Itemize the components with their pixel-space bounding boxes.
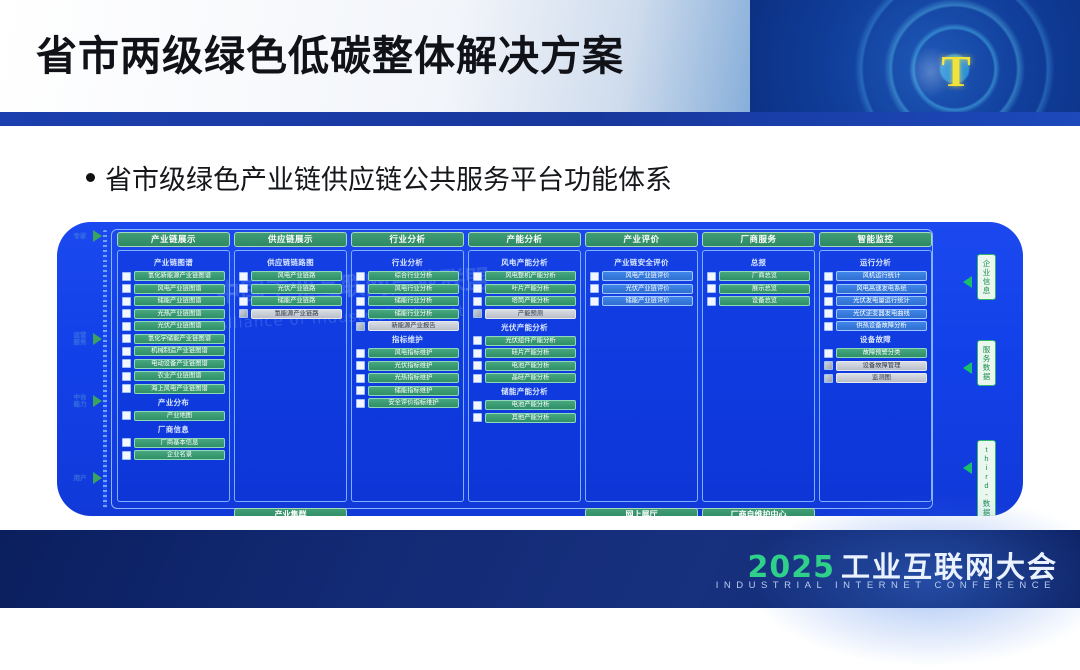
group-title: 光伏产能分析 [473,322,576,333]
checkbox-icon[interactable] [239,284,248,293]
list-item[interactable]: 电动设备产业链图谱 [122,359,225,369]
list-item[interactable]: 产能预测 [473,309,576,319]
list-item[interactable]: 厂商基本信息 [122,438,225,448]
column-2: 供应链展示供应链链路图风电产业链路光伏产业链路储能产业链路氢能源产业链路产业集群… [234,232,347,516]
item-label[interactable]: 氢化学储能产业链图谱 [134,334,225,344]
checkbox-icon[interactable] [590,272,599,281]
item-label[interactable]: 储能产业链图谱 [134,296,225,306]
item-label[interactable]: 储能产业链路 [251,296,342,306]
checkbox-icon[interactable] [473,401,482,410]
item-label[interactable]: 产业地图 [134,411,225,421]
item-label[interactable]: 风电产业链路 [251,271,342,281]
list-item[interactable]: 其他产能分析 [473,413,576,423]
item-label[interactable]: 风电整机产能分析 [485,271,576,281]
left-label-4: 用户 [69,472,102,484]
item-label[interactable]: 光伏指标维护 [368,361,459,371]
bullet-icon [86,173,95,182]
item-label[interactable]: 安全评价指标维护 [368,398,459,408]
list-item[interactable]: 光伏组件产能分析 [473,336,576,346]
group-title: 运行分析 [824,257,927,268]
arrow-left-icon-3 [963,462,972,474]
left-label-text: 中台能力 [69,394,91,408]
item-label[interactable]: 其他产能分析 [485,413,576,423]
list-item[interactable]: 风电产业链评价 [590,271,693,281]
group-title: 总报 [707,257,810,268]
checkbox-icon[interactable] [590,297,599,306]
item-label[interactable]: 光热产业链图谱 [134,309,225,319]
checkbox-icon[interactable] [824,297,833,306]
checkbox-icon[interactable] [473,413,482,422]
checkbox-icon[interactable] [122,438,131,447]
list-item[interactable]: 展示总览 [707,284,810,294]
item-label[interactable]: 风电产业链评价 [602,271,693,281]
list-item[interactable]: 产业地图 [122,411,225,421]
list-item[interactable]: 故障预警分类 [824,348,927,358]
list-item[interactable]: 光伏发电量运行统计 [824,296,927,306]
arrow-left-icon-2 [963,362,972,374]
column-5: 产业评价产业链安全评价风电产业链评价光伏产业链评价储能产业链评价网上展厅网上展厅… [585,232,698,516]
checkbox-icon[interactable] [356,284,365,293]
checkbox-icon[interactable] [824,322,833,331]
header-logo-letter: T [941,50,971,96]
checkbox-icon[interactable] [356,349,365,358]
item-label[interactable]: 供热设备故障分析 [836,321,927,331]
list-item[interactable]: 储能产业链图谱 [122,296,225,306]
list-item[interactable]: 塔筒产能分析 [473,296,576,306]
list-item[interactable]: 设备总览 [707,296,810,306]
column-container: 产业链展示产业链图谱氢化新能源产业链图谱风电产业链图谱储能产业链图谱光热产业链图… [117,232,932,516]
arrow-right-icon [93,230,102,242]
group-title: 风电产能分析 [473,257,576,268]
sub-panel-header[interactable]: 网上展厅 [585,508,698,516]
list-item[interactable]: 风电产业链图谱 [122,284,225,294]
arrow-right-icon [93,395,102,407]
arrow-left-icon-1 [963,276,972,288]
sub-panel-header[interactable]: 产业集群 [234,508,347,516]
item-label[interactable]: 储能行业分析 [368,309,459,319]
list-item[interactable]: 氢能源产业链路 [239,309,342,319]
list-item[interactable]: 安全评价指标维护 [356,398,459,408]
group-title: 行业分析 [356,257,459,268]
item-label[interactable]: 电动设备产业链图谱 [134,359,225,369]
list-item[interactable]: 风电整机产能分析 [473,271,576,281]
list-item[interactable]: 储能行业分析 [356,296,459,306]
column-header[interactable]: 智能监控 [819,232,932,247]
checkbox-icon[interactable] [824,374,833,383]
list-item[interactable]: 氢化学储能产业链图谱 [122,334,225,344]
header-decorative-art: T [750,0,1080,112]
subtitle-row: 省市级绿色产业链供应链公共服务平台功能体系 [86,158,672,197]
list-item[interactable]: 新能源产业报告 [356,321,459,331]
list-item[interactable]: 储能行业分析 [356,309,459,319]
item-label[interactable]: 储能行业分析 [368,296,459,306]
checkbox-icon[interactable] [473,336,482,345]
checkbox-icon[interactable] [473,284,482,293]
checkbox-icon[interactable] [356,297,365,306]
checkbox-icon[interactable] [239,272,248,281]
list-item[interactable]: 晶硅产能分析 [473,373,576,383]
arrow-right-icon [93,472,102,484]
column-body: 供应链链路图风电产业链路光伏产业链路储能产业链路氢能源产业链路 [234,250,347,502]
right-label-2: 服务数据 [977,340,996,386]
item-label[interactable]: 风机运行统计 [836,271,927,281]
checkbox-icon[interactable] [122,359,131,368]
left-label-3: 中台能力 [69,394,102,408]
left-label-text: 运营服务 [69,332,91,346]
list-item[interactable]: 光伏产业链图谱 [122,321,225,331]
checkbox-icon[interactable] [824,361,833,370]
list-item[interactable]: 风电产业链路 [239,271,342,281]
column-header[interactable]: 产能分析 [468,232,581,247]
list-item[interactable]: 风电行业分析 [356,284,459,294]
column-header[interactable]: 产业链展示 [117,232,230,247]
column-body: 产业链图谱氢化新能源产业链图谱风电产业链图谱储能产业链图谱光热产业链图谱光伏产业… [117,250,230,502]
list-item[interactable]: 农业产业链图谱 [122,371,225,381]
left-label-text: 用户 [69,475,91,482]
item-label[interactable]: 设备总览 [719,296,810,306]
column-header[interactable]: 厂商服务 [702,232,815,247]
checkbox-icon[interactable] [356,374,365,383]
item-label[interactable]: 厂商基本信息 [134,438,225,448]
checkbox-icon[interactable] [122,297,131,306]
group-title: 储能产能分析 [473,386,576,397]
checkbox-icon[interactable] [473,349,482,358]
list-item[interactable]: 电池产能分析 [473,361,576,371]
list-item[interactable]: 风机运行统计 [824,271,927,281]
item-label[interactable]: 展示总览 [719,284,810,294]
checkbox-icon[interactable] [122,411,131,420]
group-title: 厂商信息 [122,424,225,435]
checkbox-icon[interactable] [122,322,131,331]
list-item[interactable]: 监测图 [824,373,927,383]
column-6: 厂商服务总报厂商总览展示总览设备总览厂商自维护中心基本信息维护产品维护в营状况站… [702,232,815,516]
item-label[interactable]: 厂商总览 [719,271,810,281]
list-item[interactable]: 电池产能分析 [473,400,576,410]
item-label[interactable]: 硅片产能分析 [485,348,576,358]
checkbox-icon[interactable] [356,361,365,370]
right-label-1: 企业信息 [977,254,996,300]
left-rail [103,230,107,508]
item-label[interactable]: 叶片产能分析 [485,284,576,294]
right-label-strip: 企业信息服务数据third-数据 [963,222,1019,516]
list-item[interactable]: 叶片产能分析 [473,284,576,294]
item-label[interactable]: 光伏逆变器发电曲线 [836,309,927,319]
list-item[interactable]: 企业名录 [122,450,225,460]
column-body: 运行分析风机运行统计风电高速发电系统光伏发电量运行统计光伏逆变器发电曲线供热设备… [819,250,932,502]
group-title: 产业分布 [122,397,225,408]
item-label[interactable]: 光热指标维护 [368,373,459,383]
checkbox-icon[interactable] [122,372,131,381]
subtitle-text: 省市级绿色产业链供应链公共服务平台功能体系 [105,158,672,197]
item-label[interactable]: 塔筒产能分析 [485,296,576,306]
column-body: 产业链安全评价风电产业链评价光伏产业链评价储能产业链评价 [585,250,698,502]
page-title: 省市两级绿色低碳整体解决方案 [36,22,624,82]
list-item[interactable]: 风电指标维护 [356,348,459,358]
list-item[interactable]: 储能产业链路 [239,296,342,306]
item-label[interactable]: 风电指标维护 [368,348,459,358]
list-item[interactable]: 光伏指标维护 [356,361,459,371]
checkbox-icon[interactable] [707,297,716,306]
checkbox-icon[interactable] [473,374,482,383]
column-header[interactable]: 供应链展示 [234,232,347,247]
group-title: 产业链安全评价 [590,257,693,268]
list-item[interactable]: 供热设备故障分析 [824,321,927,331]
left-label-1: 专家 [69,230,102,242]
item-label[interactable]: 晶硅产能分析 [485,373,576,383]
list-item[interactable]: 光热指标维护 [356,373,459,383]
item-label[interactable]: 新能源产业报告 [368,321,459,331]
item-label[interactable]: 风电高速发电系统 [836,284,927,294]
list-item[interactable]: 光伏逆变器发电曲线 [824,309,927,319]
column-body: 行业分析综合行业分析风电行业分析储能行业分析储能行业分析新能源产业报告指标维护风… [351,250,464,502]
checkbox-icon[interactable] [356,399,365,408]
column-header[interactable]: 产业评价 [585,232,698,247]
checkbox-icon[interactable] [590,284,599,293]
item-label[interactable]: 海上风电产业链图谱 [134,384,225,394]
list-item[interactable]: 光伏产业链路 [239,284,342,294]
checkbox-icon[interactable] [122,334,131,343]
group-title: 供应链链路图 [239,257,342,268]
checkbox-icon[interactable] [239,309,248,318]
item-label[interactable]: 设备故障管理 [836,361,927,371]
group-title: 产业链图谱 [122,257,225,268]
list-item[interactable]: 氢化新能源产业链图谱 [122,271,225,281]
item-label[interactable]: 储能指标维护 [368,386,459,396]
slide-header: T 省市两级绿色低碳整体解决方案 [0,0,1080,112]
item-label[interactable]: 风电行业分析 [368,284,459,294]
list-item[interactable]: 光热产业链图谱 [122,309,225,319]
checkbox-icon[interactable] [356,309,365,318]
functional-architecture-diagram: 中国工业互联网产业联盟 Alliance of Industrial Inter… [57,222,1023,516]
list-item[interactable]: 储能产业链评价 [590,296,693,306]
item-label[interactable]: 电池产能分析 [485,400,576,410]
column-body: 总报厂商总览展示总览设备总览 [702,250,815,502]
item-label[interactable]: 企业名录 [134,450,225,460]
checkbox-icon[interactable] [473,297,482,306]
checkbox-icon[interactable] [824,309,833,318]
slide-footer: 2025 工业互联网大会 INDUSTRIAL INTERNET CONFERE… [0,530,1080,608]
list-item[interactable]: 硅片产能分析 [473,348,576,358]
column-1: 产业链展示产业链图谱氢化新能源产业链图谱风电产业链图谱储能产业链图谱光热产业链图… [117,232,230,516]
item-label[interactable]: 光伏产业链路 [251,284,342,294]
checkbox-icon[interactable] [356,322,365,331]
column-3: 行业分析行业分析综合行业分析风电行业分析储能行业分析储能行业分析新能源产业报告指… [351,232,464,516]
logo-name-en: INDUSTRIAL INTERNET CONFERENCE [716,580,1056,591]
left-label-text: 专家 [69,233,91,240]
left-label-2: 运营服务 [69,332,102,346]
list-item[interactable]: 厂商总览 [707,271,810,281]
item-label[interactable]: 氢能源产业链路 [251,309,342,319]
checkbox-icon[interactable] [239,297,248,306]
list-item[interactable]: 储能指标维护 [356,386,459,396]
item-label[interactable]: 光伏发电量运行统计 [836,296,927,306]
item-label[interactable]: 光伏产业链图谱 [134,321,225,331]
item-label[interactable]: 故障预警分类 [836,348,927,358]
group-title: 指标维护 [356,334,459,345]
column-header[interactable]: 行业分析 [351,232,464,247]
item-label[interactable]: 产能预测 [485,309,576,319]
checkbox-icon[interactable] [707,272,716,281]
item-label[interactable]: 农业产业链图谱 [134,371,225,381]
item-label[interactable]: 风电产业链图谱 [134,284,225,294]
list-item[interactable]: 机械制造产业链图谱 [122,346,225,356]
list-item[interactable]: 光伏产业链评价 [590,284,693,294]
checkbox-icon[interactable] [707,284,716,293]
header-rule [0,112,1080,126]
list-item[interactable]: 设备故障管理 [824,361,927,371]
item-label[interactable]: 光伏产业链评价 [602,284,693,294]
checkbox-icon[interactable] [473,361,482,370]
checkbox-icon[interactable] [824,349,833,358]
checkbox-icon[interactable] [122,309,131,318]
checkbox-icon[interactable] [356,386,365,395]
checkbox-icon[interactable] [824,284,833,293]
checkbox-icon[interactable] [122,384,131,393]
item-label[interactable]: 光伏组件产能分析 [485,336,576,346]
checkbox-icon[interactable] [473,309,482,318]
item-label[interactable]: 储能产业链评价 [602,296,693,306]
checkbox-icon[interactable] [122,284,131,293]
list-item[interactable]: 综合行业分析 [356,271,459,281]
checkbox-icon[interactable] [824,272,833,281]
checkbox-icon[interactable] [473,272,482,281]
checkbox-icon[interactable] [122,347,131,356]
column-4: 产能分析风电产能分析风电整机产能分析叶片产能分析塔筒产能分析产能预测光伏产能分析… [468,232,581,516]
item-label[interactable]: 氢化新能源产业链图谱 [134,271,225,281]
item-label[interactable]: 机械制造产业链图谱 [134,346,225,356]
list-item[interactable]: 风电高速发电系统 [824,284,927,294]
column-body: 风电产能分析风电整机产能分析叶片产能分析塔筒产能分析产能预测光伏产能分析光伏组件… [468,250,581,502]
checkbox-icon[interactable] [122,272,131,281]
item-label[interactable]: 监测图 [836,373,927,383]
item-label[interactable]: 综合行业分析 [368,271,459,281]
checkbox-icon[interactable] [356,272,365,281]
group-title: 设备故障 [824,334,927,345]
item-label[interactable]: 电池产能分析 [485,361,576,371]
arrow-right-icon [93,333,102,345]
checkbox-icon[interactable] [122,451,131,460]
column-7: 智能监控运行分析风机运行统计风电高速发电系统光伏发电量运行统计光伏逆变器发电曲线… [819,232,932,516]
list-item[interactable]: 海上风电产业链图谱 [122,384,225,394]
